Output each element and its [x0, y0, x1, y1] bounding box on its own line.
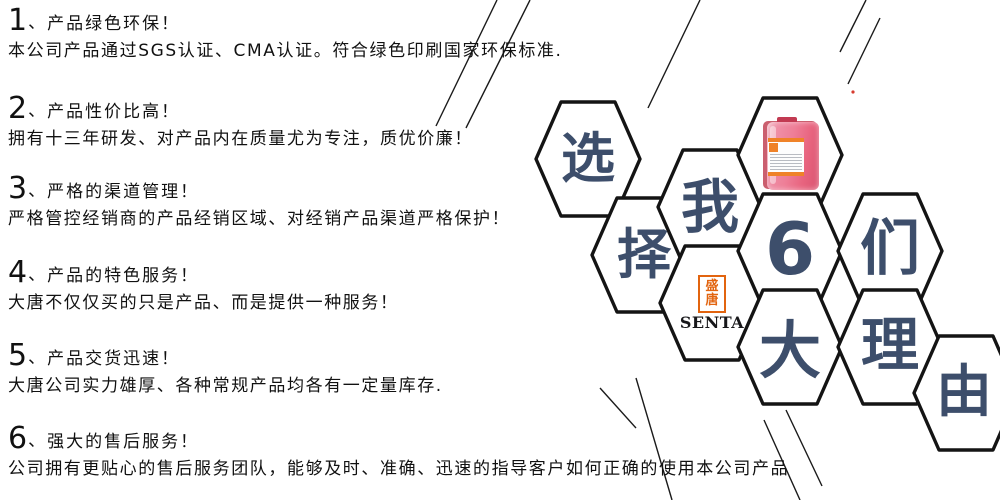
reason-item-2: 2 、 产品性价比高！ 拥有十三年研发、对产品内在质量尤为专注，质优价廉！ — [8, 94, 473, 148]
reason-title: 产品绿色环保！ — [47, 16, 180, 33]
reason-number: 6 — [8, 424, 27, 454]
reason-separator: 、 — [28, 433, 45, 450]
poster-canvas: 选 择 我 盛 唐 SENTA — [0, 0, 1000, 500]
reason-title: 产品的特色服务！ — [47, 268, 199, 285]
reason-separator: 、 — [28, 267, 45, 284]
reason-title: 产品交货迅速！ — [47, 351, 180, 368]
reason-separator: 、 — [28, 103, 45, 120]
reason-number: 5 — [8, 341, 27, 371]
reason-title: 产品性价比高！ — [47, 104, 180, 121]
reason-title: 强大的售后服务！ — [47, 434, 199, 451]
reason-item-5: 5 、 产品交货迅速！ 大唐公司实力雄厚、各种常规产品均各有一定量库存. — [8, 341, 443, 395]
reason-number: 4 — [8, 258, 27, 288]
reason-body: 本公司产品通过SGS认证、CMA认证。符合绿色印刷国家环保标准. — [8, 43, 563, 60]
reason-separator: 、 — [28, 183, 45, 200]
reason-heading: 1 、 产品绿色环保！ — [8, 6, 563, 36]
reason-number: 1 — [8, 6, 27, 36]
reason-item-1: 1 、 产品绿色环保！ 本公司产品通过SGS认证、CMA认证。符合绿色印刷国家环… — [8, 6, 563, 60]
reason-separator: 、 — [28, 350, 45, 367]
reason-body: 严格管控经销商的产品经销区域、对经销产品渠道严格保护！ — [8, 211, 510, 228]
reason-heading: 5 、 产品交货迅速！ — [8, 341, 443, 371]
reason-title: 严格的渠道管理！ — [47, 184, 199, 201]
reason-number: 2 — [8, 94, 27, 124]
reason-item-3: 3 、 严格的渠道管理！ 严格管控经销商的产品经销区域、对经销产品渠道严格保护！ — [8, 174, 510, 228]
reason-item-4: 4 、 产品的特色服务！ 大唐不仅仅买的只是产品、而是提供一种服务！ — [8, 258, 399, 312]
reason-number: 3 — [8, 174, 27, 204]
reason-body: 大唐不仅仅买的只是产品、而是提供一种服务！ — [8, 295, 399, 312]
reason-separator: 、 — [28, 15, 45, 32]
reason-body: 大唐公司实力雄厚、各种常规产品均各有一定量库存. — [8, 378, 443, 395]
reason-heading: 3 、 严格的渠道管理！ — [8, 174, 510, 204]
reason-list: 1 、 产品绿色环保！ 本公司产品通过SGS认证、CMA认证。符合绿色印刷国家环… — [0, 0, 1000, 500]
reason-heading: 2 、 产品性价比高！ — [8, 94, 473, 124]
reason-heading: 6 、 强大的售后服务！ — [8, 424, 789, 454]
reason-heading: 4 、 产品的特色服务！ — [8, 258, 399, 288]
reason-item-6: 6 、 强大的售后服务！ 公司拥有更贴心的售后服务团队，能够及时、准确、迅速的指… — [8, 424, 789, 478]
reason-body: 公司拥有更贴心的售后服务团队，能够及时、准确、迅速的指导客户如何正确的使用本公司… — [8, 461, 789, 478]
reason-body: 拥有十三年研发、对产品内在质量尤为专注，质优价廉！ — [8, 131, 473, 148]
